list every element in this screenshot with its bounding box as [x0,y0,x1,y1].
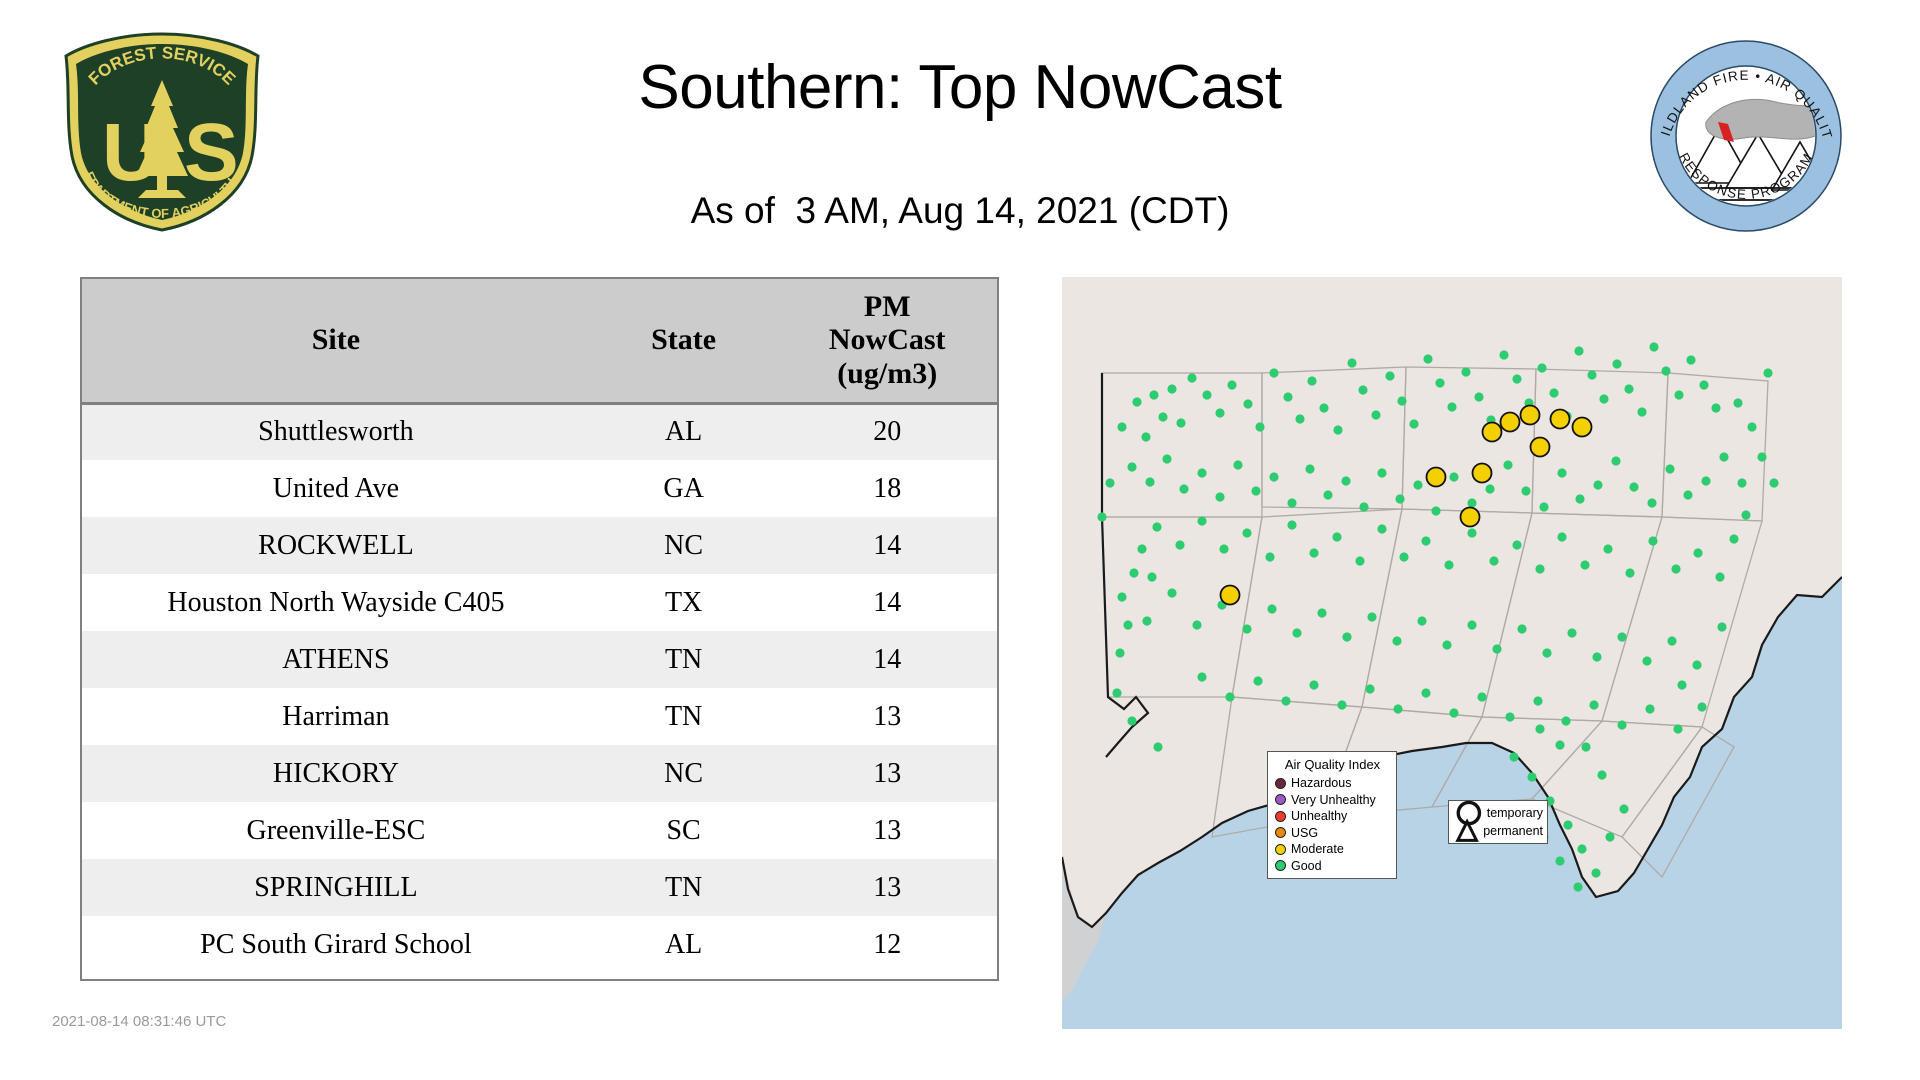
nowcast-table: Site State PM NowCast (ug/m3) Shuttleswo… [82,279,997,973]
cell-state: AL [590,916,778,973]
monitor-dot-good[interactable] [1580,560,1589,569]
monitor-dot-good[interactable] [1142,616,1151,625]
monitor-dot-good[interactable] [1295,414,1304,423]
monitor-dot-good[interactable] [1225,692,1234,701]
table-row: PC South Girard School AL 12 [82,916,997,973]
monitor-dot-good[interactable] [1697,702,1706,711]
cell-site: Greenville-ESC [82,802,590,859]
legend-label-unhealthy: Unhealthy [1291,809,1347,823]
symbol-item-permanent: permanent [1454,822,1543,840]
table-row: United Ave GA 18 [82,460,997,517]
monitor-dot-good[interactable] [1145,477,1154,486]
table-row: ATHENS TN 14 [82,631,997,688]
monitor-dot-good[interactable] [1347,358,1356,367]
monitor-dot-moderate[interactable] [1531,438,1550,457]
monitor-dot-good[interactable] [1617,632,1626,641]
monitor-dot-good[interactable] [1581,742,1590,751]
monitor-dot-good[interactable] [1413,480,1422,489]
monitor-dot-good[interactable] [1589,700,1598,709]
monitor-dot-moderate[interactable] [1501,413,1520,432]
table-body: Shuttlesworth AL 20 United Ave GA 18 ROC… [82,403,997,973]
monitor-dot-good[interactable] [1645,704,1654,713]
monitor-dot-good[interactable] [1158,412,1167,421]
monitor-dot-moderate[interactable] [1483,423,1502,442]
monitor-dot-good[interactable] [1489,556,1498,565]
legend-dot-good [1275,860,1286,871]
monitor-dot-good[interactable] [1591,868,1600,877]
cell-state: TX [590,574,778,631]
monitor-dot-good[interactable] [1733,398,1742,407]
monitor-dot-good[interactable] [1227,380,1236,389]
monitor-dot-good[interactable] [1332,532,1341,541]
monitor-dot-good[interactable] [1717,622,1726,631]
air-quality-map[interactable]: Air Quality Index Hazardous Very Unhealt… [1062,277,1842,1029]
cell-value: 12 [777,916,997,973]
monitor-dot-good[interactable] [1255,422,1264,431]
cell-site: PC South Girard School [82,916,590,973]
monitor-dot-good[interactable] [1167,588,1176,597]
symbol-label-temporary: temporary [1487,806,1543,820]
monitor-dot-good[interactable] [1517,624,1526,633]
monitor-dot-good[interactable] [1105,478,1114,487]
monitor-dot-good[interactable] [1624,384,1633,393]
monitor-dot-good[interactable] [1149,390,1158,399]
monitor-dot-good[interactable] [1251,486,1260,495]
monitor-dot-good[interactable] [1393,704,1402,713]
monitor-dot-good[interactable] [1359,502,1368,511]
cell-site: ATHENS [82,631,590,688]
monitor-dot-good[interactable] [1283,392,1292,401]
monitor-dot-good[interactable] [1395,494,1404,503]
monitor-dot-good[interactable] [1215,492,1224,501]
monitor-dot-good[interactable] [1341,476,1350,485]
monitor-dot-good[interactable] [1444,560,1453,569]
monitor-dot-good[interactable] [1421,536,1430,545]
cell-value: 13 [777,802,997,859]
monitor-dot-good[interactable] [1647,498,1656,507]
monitor-dot-good[interactable] [1499,350,1508,359]
table-row: Greenville-ESC SC 13 [82,802,997,859]
monitor-dot-good[interactable] [1342,632,1351,641]
monitor-dot-good[interactable] [1141,432,1150,441]
monitor-dot-good[interactable] [1337,700,1346,709]
monitor-dot-good[interactable] [1307,376,1316,385]
monitor-dot-good[interactable] [1309,680,1318,689]
monitor-dot-good[interactable] [1537,363,1546,372]
legend-label-good: Good [1291,859,1322,873]
monitor-dot-good[interactable] [1527,772,1536,781]
monitor-dot-good[interactable] [1673,724,1682,733]
legend-title: Air Quality Index [1275,757,1390,772]
monitor-dot-good[interactable] [1371,410,1380,419]
monitor-dot-good[interactable] [1539,502,1548,511]
cell-site: Houston North Wayside C405 [82,574,590,631]
cell-value: 13 [777,688,997,745]
monitor-dot-good[interactable] [1179,484,1188,493]
legend-dot-usg [1275,827,1286,838]
column-header-pm-line3: (ug/m3) [777,357,997,391]
monitor-dot-good[interactable] [1417,616,1426,625]
monitor-dot-good[interactable] [1577,844,1586,853]
column-header-state: State [590,279,778,403]
monitor-dot-good[interactable] [1127,716,1136,725]
cell-state: NC [590,517,778,574]
monitor-dot-good[interactable] [1563,820,1572,829]
monitor-dot-good[interactable] [1305,464,1314,473]
monitor-dot-good[interactable] [1701,476,1710,485]
monitor-dot-good[interactable] [1555,856,1564,865]
legend-item-unhealthy: Unhealthy [1275,808,1390,825]
monitor-dot-good[interactable] [1447,402,1456,411]
monitor-dot-good[interactable] [1599,394,1608,403]
monitor-dot-good[interactable] [1323,490,1332,499]
slide-root: FOREST SERVICE DEPARTMENT OF AGRICULTURE… [0,0,1920,1080]
monitor-dot-good[interactable] [1747,422,1756,431]
monitor-dot-good[interactable] [1567,628,1576,637]
monitor-dot-moderate[interactable] [1427,468,1446,487]
monitor-dot-good[interactable] [1535,564,1544,573]
monitor-dot-good[interactable] [1242,528,1251,537]
monitor-dot-good[interactable] [1153,742,1162,751]
cell-state: AL [590,403,778,460]
wildland-fire-air-quality-logo: WILDLAND FIRE • AIR QUALITY RESPONSE PRO… [1648,38,1844,234]
monitor-dot-good[interactable] [1642,656,1651,665]
monitor-dot-good[interactable] [1763,368,1772,377]
monitor-dot-good[interactable] [1162,454,1171,463]
cell-state: TN [590,631,778,688]
monitor-dot-good[interactable] [1593,480,1602,489]
monitor-dot-good[interactable] [1665,464,1674,473]
monitor-dot-good[interactable] [1197,672,1206,681]
monitor-dot-moderate[interactable] [1521,406,1540,425]
cell-value: 14 [777,517,997,574]
column-header-pm-line1: PM [777,290,997,324]
monitor-dot-good[interactable] [1521,486,1530,495]
legend-item-moderate: Moderate [1275,841,1390,858]
monitor-dot-good[interactable] [1397,396,1406,405]
legend-label-moderate: Moderate [1291,842,1344,856]
monitor-dot-moderate[interactable] [1573,418,1592,437]
monitor-dot-good[interactable] [1741,510,1750,519]
monitor-dot-good[interactable] [1587,370,1596,379]
monitor-dot-good[interactable] [1215,408,1224,417]
monitor-dot-good[interactable] [1711,403,1720,412]
cell-state: NC [590,745,778,802]
footer-timestamp: 2021-08-14 08:31:46 UTC [52,1013,226,1030]
monitor-dot-good[interactable] [1693,548,1702,557]
legend-item-very-unhealthy: Very Unhealthy [1275,792,1390,809]
cell-site: SPRINGHILL [82,859,590,916]
cell-state: GA [590,460,778,517]
monitor-dot-good[interactable] [1287,520,1296,529]
cell-site: Harriman [82,688,590,745]
monitor-dot-good[interactable] [1242,624,1251,633]
monitor-dot-good[interactable] [1358,385,1367,394]
monitor-dot-good[interactable] [1715,572,1724,581]
table-row: Harriman TN 13 [82,688,997,745]
monitor-dot-good[interactable] [1355,556,1364,565]
cell-site: HICKORY [82,745,590,802]
monitor-dot-good[interactable] [1461,367,1470,376]
monitor-dot-good[interactable] [1112,688,1121,697]
legend-item-usg: USG [1275,825,1390,842]
legend-label-usg: USG [1291,826,1318,840]
monitor-dot-good[interactable] [1512,540,1521,549]
forest-service-logo: FOREST SERVICE DEPARTMENT OF AGRICULTURE… [52,28,272,236]
nowcast-table-container: Site State PM NowCast (ug/m3) Shuttleswo… [80,277,999,981]
cell-value: 18 [777,460,997,517]
monitor-dot-good[interactable] [1127,462,1136,471]
monitor-dot-good[interactable] [1365,684,1374,693]
cell-state: TN [590,688,778,745]
monitor-dot-good[interactable] [1243,399,1252,408]
monitor-dot-good[interactable] [1617,720,1626,729]
symbol-label-permanent: permanent [1483,824,1543,838]
monitor-dot-good[interactable] [1485,484,1494,493]
monitor-dot-good[interactable] [1392,636,1401,645]
monitor-dot-good[interactable] [1549,388,1558,397]
monitor-dot-good[interactable] [1671,564,1680,573]
monitor-dot-good[interactable] [1729,534,1738,543]
page-title: Southern: Top NowCast [300,52,1620,123]
monitor-dot-good[interactable] [1281,696,1290,705]
monitor-dot-good[interactable] [1677,680,1686,689]
monitor-dot-good[interactable] [1147,572,1156,581]
monitor-dot-good[interactable] [1197,516,1206,525]
monitor-dot-good[interactable] [1492,644,1501,653]
monitor-dot-good[interactable] [1377,524,1386,533]
monitor-dot-good[interactable] [1269,368,1278,377]
cell-value: 14 [777,631,997,688]
monitor-dot-good[interactable] [1674,390,1683,399]
monitor-dot-good[interactable] [1265,552,1274,561]
monitor-dot-good[interactable] [1573,882,1582,891]
monitor-dot-good[interactable] [1555,740,1564,749]
monitor-dot-good[interactable] [1409,419,1418,428]
monitor-dot-good[interactable] [1132,397,1141,406]
monitor-dot-good[interactable] [1692,660,1701,669]
monitor-dot-good[interactable] [1505,712,1514,721]
monitor-dot-good[interactable] [1176,418,1185,427]
legend-item-good: Good [1275,858,1390,875]
monitor-dot-good[interactable] [1269,472,1278,481]
monitor-dot-good[interactable] [1202,390,1211,399]
monitor-dot-good[interactable] [1319,403,1328,412]
monitor-dot-good[interactable] [1399,552,1408,561]
monitor-dot-good[interactable] [1649,342,1658,351]
monitor-dot-good[interactable] [1557,468,1566,477]
monitor-dot-good[interactable] [1333,425,1342,434]
monitor-dot-good[interactable] [1435,378,1444,387]
monitor-dot-good[interactable] [1542,648,1551,657]
monitor-dot-good[interactable] [1611,456,1620,465]
cell-value: 20 [777,403,997,460]
monitor-dot-good[interactable] [1597,770,1606,779]
monitor-dot-good[interactable] [1377,468,1386,477]
cell-value: 13 [777,859,997,916]
monitor-dot-good[interactable] [1442,640,1451,649]
fs-letter-s: S [184,107,239,198]
table-row: Shuttlesworth AL 20 [82,403,997,460]
legend-label-hazardous: Hazardous [1291,776,1351,790]
table-row: Houston North Wayside C405 TX 14 [82,574,997,631]
monitor-dot-moderate[interactable] [1221,586,1240,605]
monitor-dot-good[interactable] [1699,380,1708,389]
monitor-dot-good[interactable] [1167,384,1176,393]
monitor-dot-good[interactable] [1719,452,1728,461]
monitor-dot-good[interactable] [1197,468,1206,477]
legend-dot-very-unhealthy [1275,794,1286,805]
monitor-dot-good[interactable] [1152,522,1161,531]
legend-dot-hazardous [1275,778,1286,789]
monitor-dot-good[interactable] [1575,494,1584,503]
monitor-dot-good[interactable] [1533,696,1542,705]
table-row: HICKORY NC 13 [82,745,997,802]
monitor-dot-good[interactable] [1309,548,1318,557]
monitor-dot-good[interactable] [1117,422,1126,431]
monitor-dot-good[interactable] [1367,612,1376,621]
monitor-dot-good[interactable] [1619,804,1628,813]
monitor-type-legend: temporary permanent [1448,800,1548,844]
table-row: ROCKWELL NC 14 [82,517,997,574]
monitor-dot-good[interactable] [1603,544,1612,553]
legend-dot-unhealthy [1275,811,1286,822]
monitor-dot-good[interactable] [1175,540,1184,549]
monitor-dot-good[interactable] [1287,498,1296,507]
monitor-dot-good[interactable] [1267,604,1276,613]
monitor-dot-good[interactable] [1605,832,1614,841]
monitor-dot-good[interactable] [1233,460,1242,469]
monitor-dot-good[interactable] [1431,506,1440,515]
legend-label-very-unhealthy: Very Unhealthy [1291,793,1376,807]
monitor-dot-good[interactable] [1561,716,1570,725]
cell-site: United Ave [82,460,590,517]
monitor-dot-moderate[interactable] [1551,410,1570,429]
column-header-pm-nowcast: PM NowCast (ug/m3) [777,279,997,403]
monitor-dot-good[interactable] [1592,652,1601,661]
monitor-dot-good[interactable] [1661,366,1670,375]
cell-site: Shuttlesworth [82,403,590,460]
monitor-dot-good[interactable] [1737,478,1746,487]
cell-value: 14 [777,574,997,631]
monitor-dot-good[interactable] [1253,676,1262,685]
monitor-dot-good[interactable] [1097,512,1106,521]
monitor-dot-good[interactable] [1629,482,1638,491]
monitor-dot-good[interactable] [1509,752,1518,761]
monitor-dot-good[interactable] [1423,354,1432,363]
monitor-dot-good[interactable] [1535,724,1544,733]
monitor-dot-good[interactable] [1757,452,1766,461]
cell-value: 13 [777,745,997,802]
legend-dot-moderate [1275,844,1286,855]
legend-item-hazardous: Hazardous [1275,775,1390,792]
monitor-dot-good[interactable] [1117,592,1126,601]
monitor-dot-good[interactable] [1123,620,1132,629]
cell-site: ROCKWELL [82,517,590,574]
monitor-dot-good[interactable] [1512,374,1521,383]
triangle-icon [1454,455,1480,1029]
page-subtitle: As of 3 AM, Aug 14, 2021 (CDT) [300,190,1620,232]
monitor-dot-good[interactable] [1292,628,1301,637]
monitor-dot-good[interactable] [1115,648,1124,657]
column-header-pm-line2: NowCast [777,323,997,357]
monitor-dot-good[interactable] [1385,371,1394,380]
aqi-legend: Air Quality Index Hazardous Very Unhealt… [1267,751,1397,879]
monitor-dot-good[interactable] [1683,490,1692,499]
monitor-dot-good[interactable] [1637,407,1646,416]
monitor-dot-good[interactable] [1129,568,1138,577]
monitor-dot-good[interactable] [1317,608,1326,617]
column-header-site: Site [82,279,590,403]
table-row: SPRINGHILL TN 13 [82,859,997,916]
monitor-dot-good[interactable] [1219,544,1228,553]
monitor-dot-good[interactable] [1625,568,1634,577]
monitor-dot-good[interactable] [1574,346,1583,355]
monitor-dot-good[interactable] [1648,536,1657,545]
table-header-row: Site State PM NowCast (ug/m3) [82,279,997,403]
monitor-dot-good[interactable] [1137,544,1146,553]
cell-state: SC [590,802,778,859]
monitor-dot-good[interactable] [1192,620,1201,629]
cell-state: TN [590,859,778,916]
monitor-dot-good[interactable] [1474,392,1483,401]
monitor-dot-good[interactable] [1612,359,1621,368]
monitor-dot-good[interactable] [1686,355,1695,364]
monitor-dot-good[interactable] [1503,460,1512,469]
monitor-dot-good[interactable] [1557,532,1566,541]
monitor-dot-good[interactable] [1421,688,1430,697]
monitor-dot-good[interactable] [1667,636,1676,645]
monitor-dot-good[interactable] [1769,478,1778,487]
monitor-dot-good[interactable] [1187,373,1196,382]
